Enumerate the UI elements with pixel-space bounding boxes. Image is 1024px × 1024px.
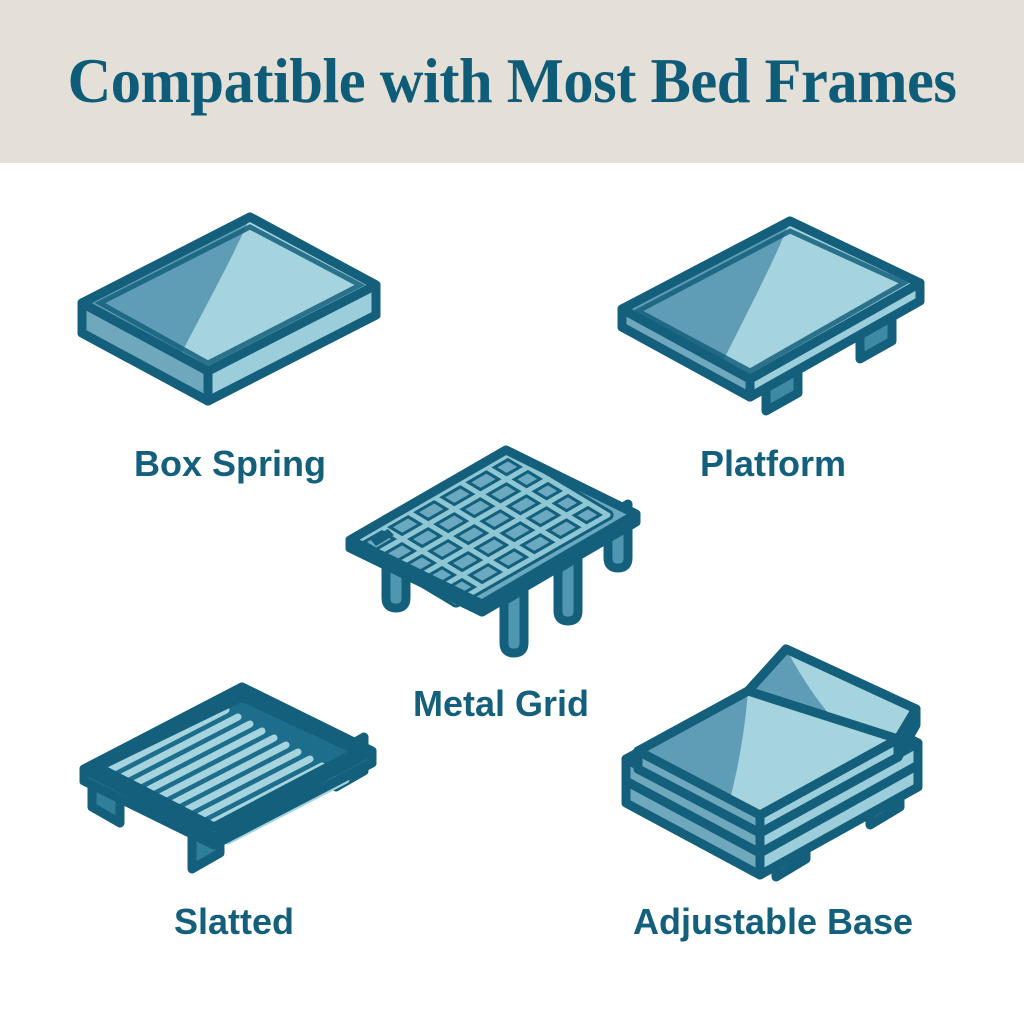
adjustable-base-icon [598, 643, 948, 893]
figure-adjustable-base [598, 643, 948, 898]
figure-metal-grid [336, 438, 666, 673]
figure-slatted [74, 675, 394, 885]
page-title: Compatible with Most Bed Frames [20, 0, 1003, 163]
label-adjustable-base: Adjustable Base [598, 901, 948, 943]
platform-icon [598, 205, 948, 435]
illustration-canvas: Box Spring [0, 163, 1024, 1024]
figure-box-spring [60, 203, 400, 438]
figure-platform [598, 205, 948, 440]
label-slatted: Slatted [74, 901, 394, 943]
metal-grid-icon [336, 438, 666, 668]
slatted-icon [74, 675, 394, 880]
infographic-page: Compatible with Most Bed Frames [0, 0, 1024, 1024]
box-spring-icon [60, 203, 400, 433]
